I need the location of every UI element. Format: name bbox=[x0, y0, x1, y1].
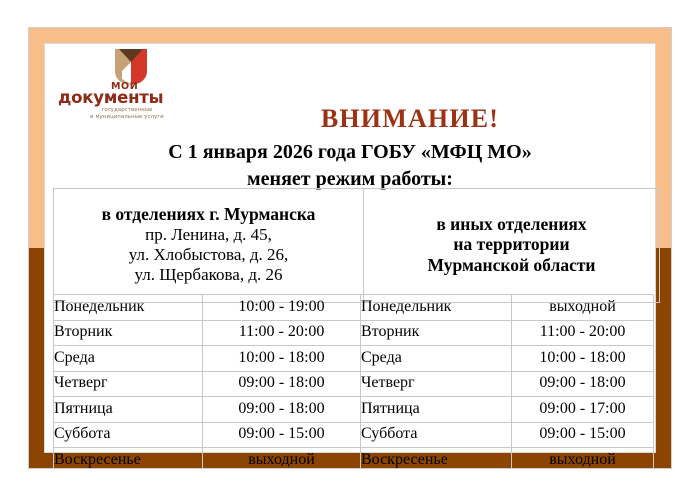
branch-header-right: в иных отделениях на территории Мурманск… bbox=[364, 189, 660, 303]
poster-frame: МОИ документы государственные и муниципа… bbox=[28, 27, 672, 469]
day-label-right: Пятница bbox=[361, 397, 512, 423]
day-label-left: Понедельник bbox=[54, 295, 203, 321]
table-row: Понедельник 10:00 - 19:00 Понедельник вы… bbox=[54, 295, 654, 321]
left-address-1: пр. Ленина, д. 45, bbox=[56, 225, 361, 245]
left-address-3: ул. Щербакова, д. 26 bbox=[56, 265, 361, 285]
schedule-table: Понедельник 10:00 - 19:00 Понедельник вы… bbox=[53, 294, 654, 469]
day-label-left: Вторник bbox=[54, 320, 203, 346]
hours-right: 09:00 - 17:00 bbox=[512, 397, 654, 423]
day-label-right: Суббота bbox=[361, 422, 512, 448]
attention-heading: ВНИМАНИЕ! bbox=[45, 104, 655, 134]
branch-header-row: в отделениях г. Мурманска пр. Ленина, д.… bbox=[54, 189, 660, 303]
branch-header-left: в отделениях г. Мурманска пр. Ленина, д.… bbox=[54, 189, 364, 303]
hours-left: выходной bbox=[203, 448, 361, 470]
branch-header-table: в отделениях г. Мурманска пр. Ленина, д.… bbox=[53, 188, 660, 303]
hours-right: 10:00 - 18:00 bbox=[512, 346, 654, 372]
right-column-title-2: на территории bbox=[366, 234, 657, 255]
hours-right: выходной bbox=[512, 295, 654, 321]
hours-left: 10:00 - 19:00 bbox=[203, 295, 361, 321]
hours-right: 09:00 - 18:00 bbox=[512, 371, 654, 397]
hours-right: 09:00 - 15:00 bbox=[512, 422, 654, 448]
table-row: Воскресенье выходной Воскресенье выходно… bbox=[54, 448, 654, 470]
table-row: Среда 10:00 - 18:00 Среда 10:00 - 18:00 bbox=[54, 346, 654, 372]
hours-right: выходной bbox=[512, 448, 654, 470]
day-label-right: Среда bbox=[361, 346, 512, 372]
hours-right: 11:00 - 20:00 bbox=[512, 320, 654, 346]
table-row: Пятница 09:00 - 18:00 Пятница 09:00 - 17… bbox=[54, 397, 654, 423]
day-label-left: Суббота bbox=[54, 422, 203, 448]
table-row: Четверг 09:00 - 18:00 Четверг 09:00 - 18… bbox=[54, 371, 654, 397]
day-label-left: Четверг bbox=[54, 371, 203, 397]
day-label-right: Четверг bbox=[361, 371, 512, 397]
hours-left: 11:00 - 20:00 bbox=[203, 320, 361, 346]
day-label-left: Среда bbox=[54, 346, 203, 372]
hours-left: 09:00 - 18:00 bbox=[203, 397, 361, 423]
poster-page: МОИ документы государственные и муниципа… bbox=[44, 43, 656, 453]
day-label-left: Пятница bbox=[54, 397, 203, 423]
subtitle-line-1: С 1 января 2026 года ГОБУ «МФЦ МО» bbox=[45, 139, 655, 166]
table-row: Суббота 09:00 - 15:00 Суббота 09:00 - 15… bbox=[54, 422, 654, 448]
right-column-title-3: Мурманской области bbox=[366, 255, 657, 276]
hours-left: 09:00 - 18:00 bbox=[203, 371, 361, 397]
day-label-right: Вторник bbox=[361, 320, 512, 346]
right-column-title-1: в иных отделениях bbox=[366, 214, 657, 235]
mfc-shield-icon bbox=[115, 49, 147, 85]
left-column-title: в отделениях г. Мурманска bbox=[56, 204, 361, 225]
table-row: Вторник 11:00 - 20:00 Вторник 11:00 - 20… bbox=[54, 320, 654, 346]
left-address-2: ул. Хлобыстова, д. 26, bbox=[56, 245, 361, 265]
hours-left: 10:00 - 18:00 bbox=[203, 346, 361, 372]
schedule-body: Понедельник 10:00 - 19:00 Понедельник вы… bbox=[54, 295, 654, 470]
hours-left: 09:00 - 15:00 bbox=[203, 422, 361, 448]
day-label-left: Воскресенье bbox=[54, 448, 203, 470]
subtitle-block: С 1 января 2026 года ГОБУ «МФЦ МО» меняе… bbox=[45, 139, 655, 192]
day-label-right: Воскресенье bbox=[361, 448, 512, 470]
day-label-right: Понедельник bbox=[361, 295, 512, 321]
